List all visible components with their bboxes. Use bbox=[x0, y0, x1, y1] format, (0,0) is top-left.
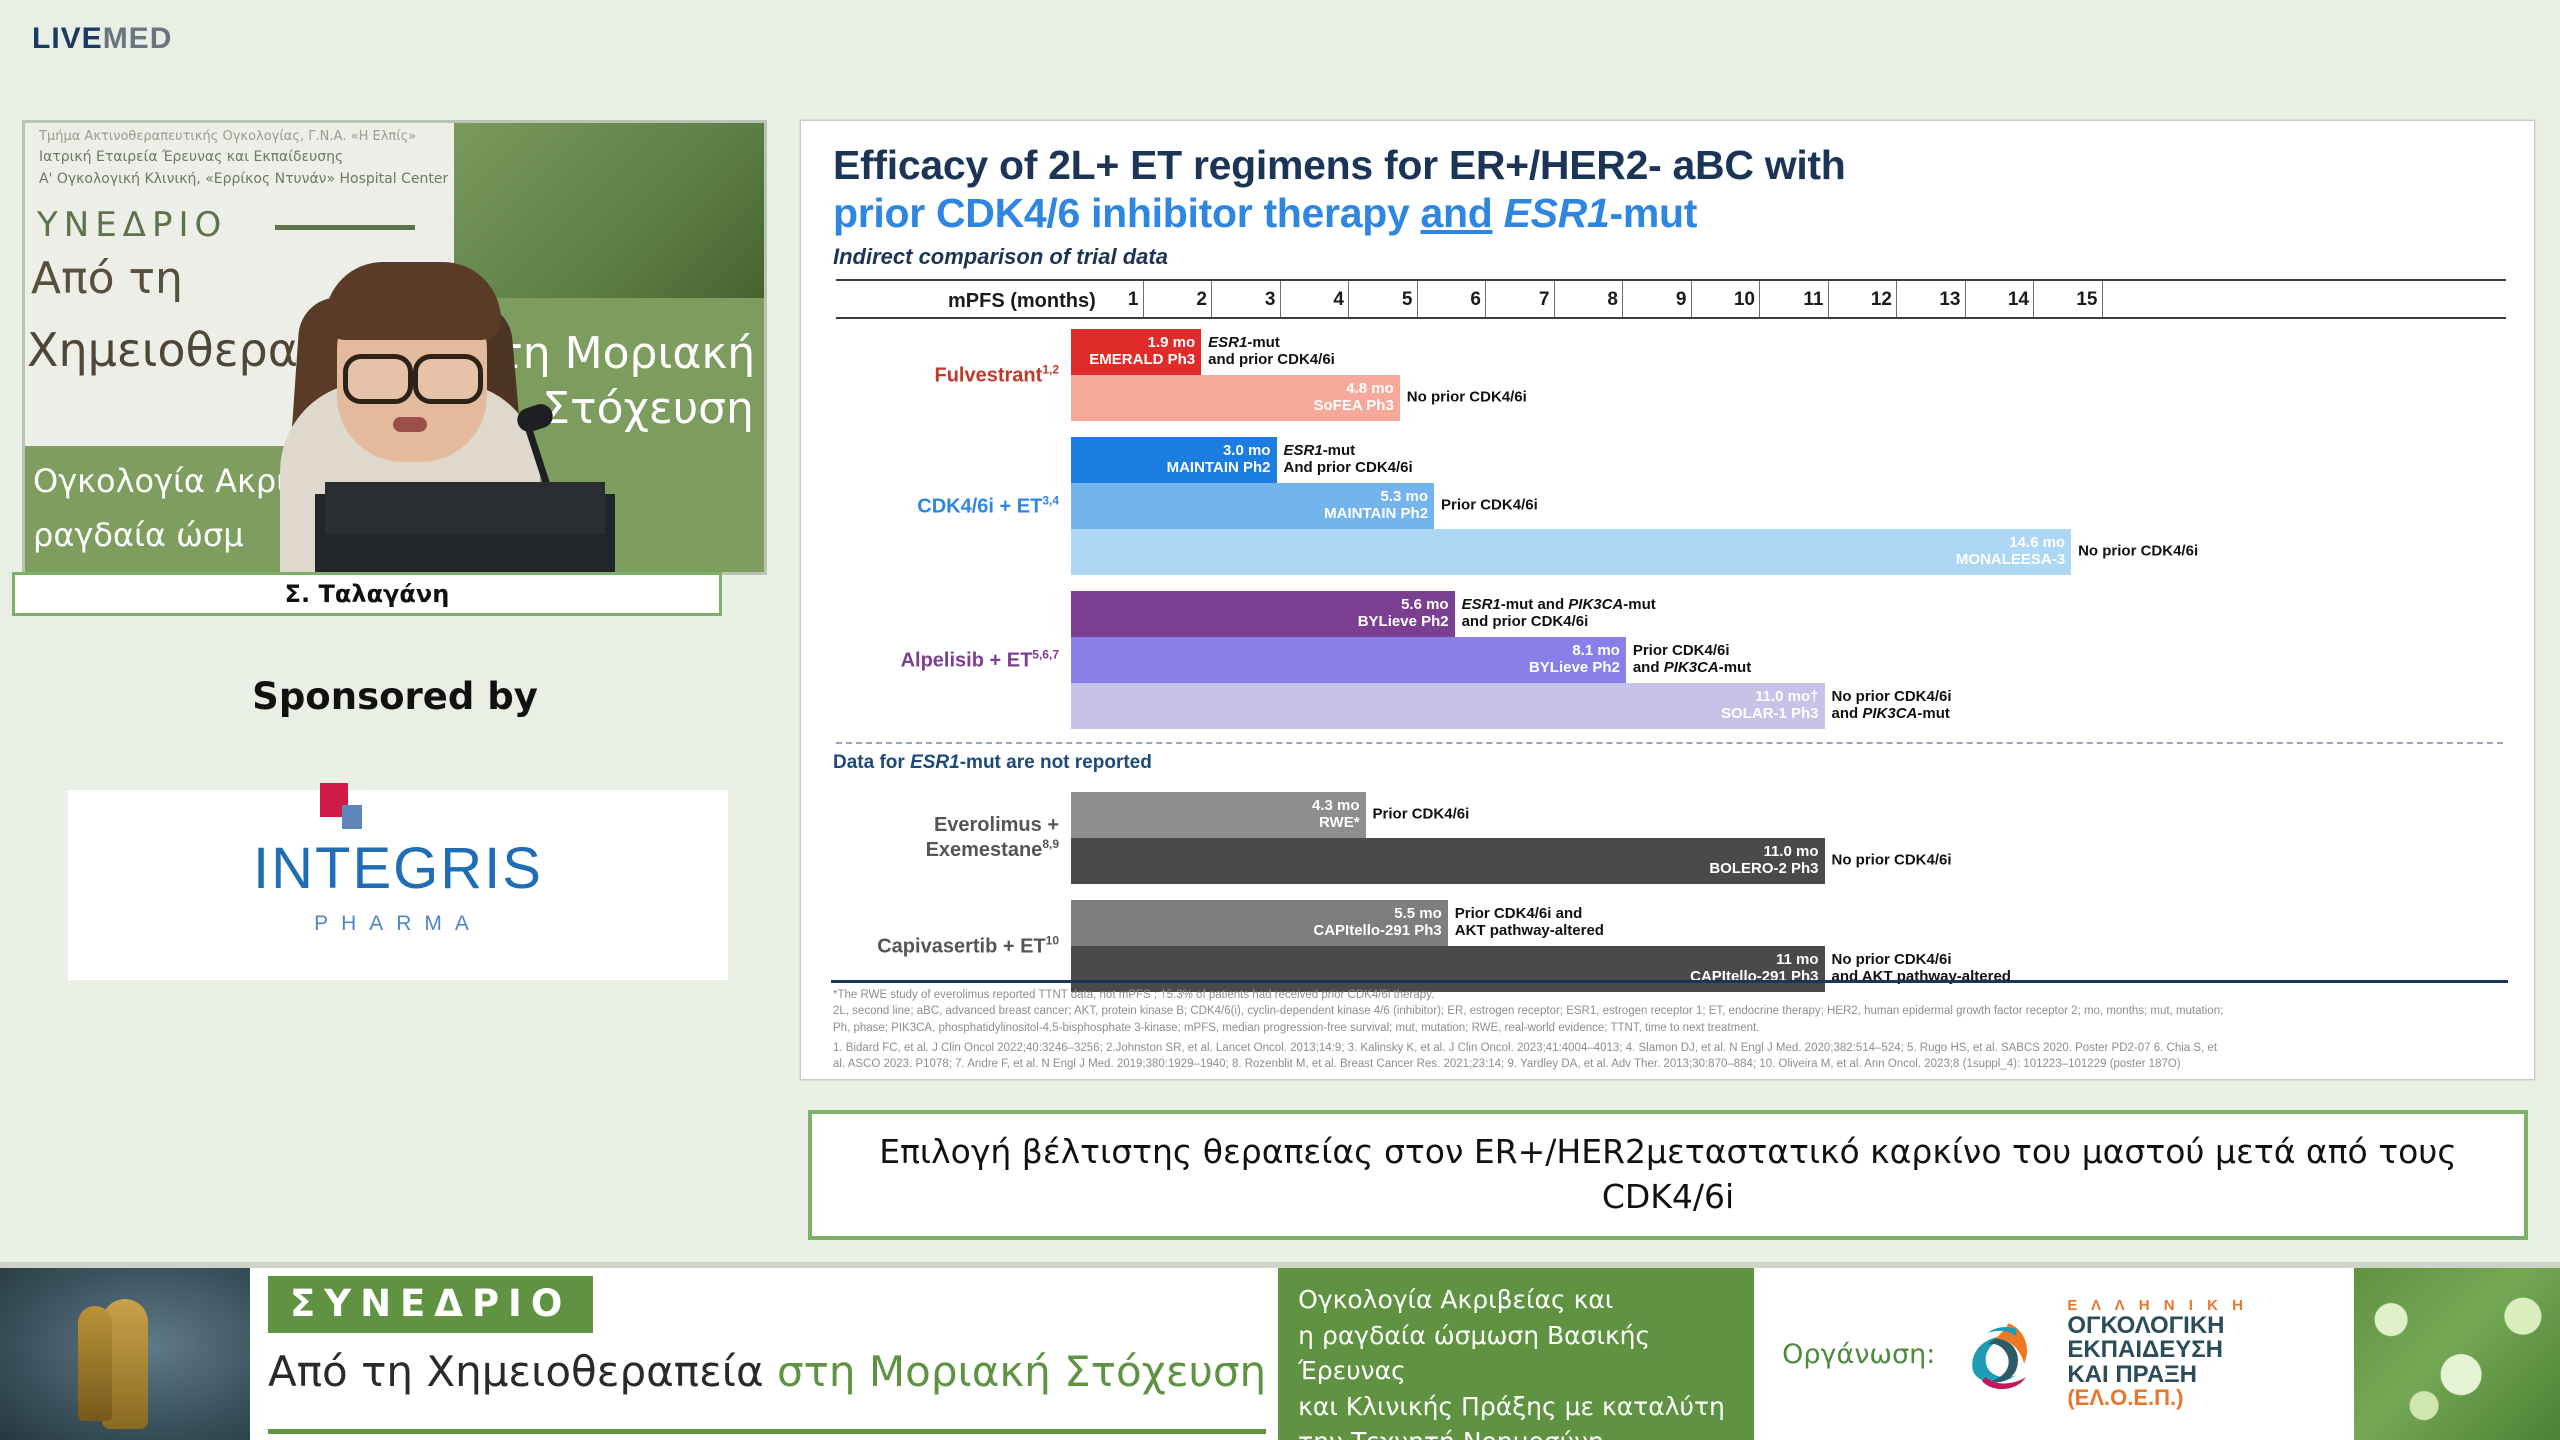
chart-bar-row: 5.3 moMAINTAIN Ph2Prior CDK4/6i bbox=[833, 483, 2506, 529]
chart-bar-value-label: 3.0 moMAINTAIN Ph2 bbox=[1167, 443, 1271, 477]
chart-bar-row: 4.8 moSoFEA Ph3No prior CDK4/6i bbox=[833, 375, 2506, 421]
backdrop-stoxeusi: Στόχευση bbox=[542, 383, 754, 434]
axis-tick-12: 12 bbox=[1896, 281, 1897, 317]
abbreviations-line1: 2L, second line; aBC, advanced breast ca… bbox=[833, 1003, 2510, 1020]
chart-bar-row: 14.6 moMONALEESA-3No prior CDK4/6i bbox=[833, 529, 2506, 575]
chart-bar[interactable]: 11 moCAPItello-291 Ph3 bbox=[1071, 946, 1825, 992]
axis-tick-9: 9 bbox=[1691, 281, 1692, 317]
not-reported-note: Data for ESR1-mut are not reported bbox=[833, 752, 2506, 774]
chart-bar-note: Prior CDK4/6i bbox=[1366, 806, 1470, 823]
axis-tick-8: 8 bbox=[1622, 281, 1623, 317]
sponsor-logo-card: INTEGRIS PHARMA bbox=[68, 790, 728, 980]
chart-bar[interactable]: 8.1 moBYLieve Ph2 bbox=[1071, 637, 1626, 683]
slide-title-mut: -mut bbox=[1610, 190, 1698, 236]
chart-bar-row: 8.1 moBYLieve Ph2Prior CDK4/6iand PIK3CA… bbox=[833, 637, 2506, 683]
session-caption: Επιλογή βέλτιστης θεραπείας στον ER+/HER… bbox=[808, 1110, 2528, 1240]
not-reported-a: Data for bbox=[833, 752, 910, 773]
banner-tagline-green: στη Μοριακή Στόχευση bbox=[777, 1347, 1266, 1396]
brand-med: MED bbox=[103, 22, 173, 55]
backdrop-green-topright bbox=[454, 123, 764, 298]
axis-tick-label: 15 bbox=[2076, 289, 2097, 311]
axis-tick-label: 8 bbox=[1607, 289, 1618, 311]
brand-live: LIVE bbox=[32, 22, 103, 55]
chart-bar-note: No prior CDK4/6i bbox=[2071, 543, 2198, 560]
conference-banner: ΣΥΝΕΔΡΙΟ Από τη Χημειοθεραπεία στη Μορια… bbox=[0, 1262, 2560, 1440]
chart-bar-row: 11.0 mo†SOLAR-1 Ph3No prior CDK4/6iand P… bbox=[833, 683, 2506, 729]
sponsored-by-heading: Sponsored by bbox=[0, 675, 790, 718]
app-root: LIVEMED Τμήμα Ακτινοθεραπευτικής Ογκολογ… bbox=[0, 0, 2560, 1440]
chart-bar-value-label: 5.3 moMAINTAIN Ph2 bbox=[1324, 489, 1428, 523]
axis-tick-label: 1 bbox=[1128, 289, 1139, 311]
organizer-label: Οργάνωση: bbox=[1782, 1339, 1935, 1370]
chart-axis: mPFS (months) 123456789101112131415 bbox=[836, 279, 2506, 319]
chart-bar-note: Prior CDK4/6iand PIK3CA-mut bbox=[1626, 643, 1751, 677]
not-reported-esr1: ESR1 bbox=[910, 752, 960, 773]
banner-tagline-dark: Από τη Χημειοθεραπεία bbox=[268, 1347, 777, 1396]
axis-tick-label: 13 bbox=[1939, 289, 1960, 311]
axis-label: mPFS (months) bbox=[948, 290, 1096, 313]
slide-subtitle: Indirect comparison of trial data bbox=[833, 244, 2506, 270]
eloep-line2: ΟΓΚΟΛΟΓΙΚΗ bbox=[2067, 1314, 2248, 1338]
axis-tick-label: 5 bbox=[1402, 289, 1413, 311]
chart-bar-row: 4.3 moRWE*Prior CDK4/6i bbox=[833, 792, 2506, 838]
slide-title-esr1: ESR1 bbox=[1504, 190, 1610, 236]
chart-bar-note: No prior CDK4/6i bbox=[1400, 389, 1527, 406]
speaker-name-plate: Σ. Ταλαγάνη bbox=[12, 572, 722, 616]
chart-bar-value-label: 8.1 moBYLieve Ph2 bbox=[1529, 643, 1620, 677]
chart-bar-row: 1.9 moEMERALD Ph3ESR1-mutand prior CDK4/… bbox=[833, 329, 2506, 375]
chart-bar-value-label: 5.5 moCAPItello-291 Ph3 bbox=[1313, 906, 1441, 940]
eloep-swirl-icon bbox=[1953, 1306, 2049, 1402]
chart-group: CDK4/6i + ET3,43.0 moMAINTAIN Ph2ESR1-mu… bbox=[833, 437, 2506, 575]
speaker-video-panel[interactable]: Τμήμα Ακτινοθεραπευτικής Ογκολογίας, Γ.Ν… bbox=[22, 120, 767, 575]
not-reported-b: -mut are not reported bbox=[960, 752, 1152, 773]
banner-theme-block: Ογκολογία Ακριβείας και η ραγδαία ώσμωση… bbox=[1278, 1268, 1754, 1440]
axis-tick-13: 13 bbox=[1965, 281, 1966, 317]
axis-tick-label: 9 bbox=[1676, 289, 1687, 311]
axis-tick-label: 7 bbox=[1539, 289, 1550, 311]
axis-tick-label: 12 bbox=[1871, 289, 1892, 311]
session-caption-text: Επιλογή βέλτιστης θεραπείας στον ER+/HER… bbox=[812, 1114, 2524, 1236]
backdrop-apo: Από τη bbox=[31, 253, 183, 304]
chart-bar-row: 5.6 moBYLieve Ph2ESR1-mut and PIK3CA-mut… bbox=[833, 591, 2506, 637]
slide-title-part-a: prior CDK4/6 inhibitor therapy bbox=[833, 190, 1421, 236]
chart-bar[interactable]: 5.3 moMAINTAIN Ph2 bbox=[1071, 483, 1434, 529]
axis-tick-1: 1 bbox=[1143, 281, 1144, 317]
axis-tick-label: 11 bbox=[1803, 289, 1823, 311]
livemed-logo: LIVEMED bbox=[32, 22, 172, 56]
axis-tick-15: 15 bbox=[2102, 281, 2103, 317]
slide-title-space bbox=[1493, 190, 1504, 236]
chart-bar-note: ESR1-mutand prior CDK4/6i bbox=[1201, 335, 1335, 369]
axis-tick-7: 7 bbox=[1554, 281, 1555, 317]
chart-bar-value-label: 11.0 moBOLERO-2 Ph3 bbox=[1709, 844, 1818, 878]
banner-synedrio-badge: ΣΥΝΕΔΡΙΟ bbox=[268, 1276, 593, 1333]
integris-logo: INTEGRIS PHARMA bbox=[68, 790, 728, 980]
chart-bar-row: 3.0 moMAINTAIN Ph2ESR1-mutAnd prior CDK4… bbox=[833, 437, 2506, 483]
axis-tick-label: 10 bbox=[1734, 289, 1755, 311]
chart-bar-value-label: 5.6 moBYLieve Ph2 bbox=[1358, 597, 1449, 631]
speaker-mouth bbox=[393, 417, 427, 432]
glasses-icon bbox=[343, 354, 483, 394]
chart-bar[interactable]: 14.6 moMONALEESA-3 bbox=[1071, 529, 2071, 575]
laptop bbox=[325, 482, 605, 534]
cells-image bbox=[2354, 1268, 2560, 1440]
chart-bar-note: Prior CDK4/6i bbox=[1434, 497, 1538, 514]
slide-title-line1: Efficacy of 2L+ ET regimens for ER+/HER2… bbox=[833, 143, 2506, 189]
chart-bar[interactable]: 11.0 moBOLERO-2 Ph3 bbox=[1071, 838, 1825, 884]
axis-tick-10: 10 bbox=[1759, 281, 1760, 317]
chart-bar[interactable]: 5.6 moBYLieve Ph2 bbox=[1071, 591, 1455, 637]
chart-bar[interactable]: 3.0 moMAINTAIN Ph2 bbox=[1071, 437, 1277, 483]
chart-bar-note: ESR1-mutAnd prior CDK4/6i bbox=[1277, 443, 1413, 477]
banner-theme-line1: Ογκολογία Ακριβείας και bbox=[1298, 1282, 1734, 1318]
banner-tagline: Από τη Χημειοθεραπεία στη Μοριακή Στόχευ… bbox=[268, 1347, 1266, 1396]
speaker-video[interactable]: Τμήμα Ακτινοθεραπευτικής Ογκολογίας, Γ.Ν… bbox=[25, 123, 764, 572]
axis-tick-14: 14 bbox=[2033, 281, 2034, 317]
eloep-wordmark: Ε Λ Λ Η Ν Ι Κ Η ΟΓΚΟΛΟΓΙΚΗ ΕΚΠΑΙΔΕΥΣΗ ΚΑ… bbox=[2067, 1298, 2248, 1409]
axis-tick-label: 14 bbox=[2008, 289, 2029, 311]
slide-title-line2: prior CDK4/6 inhibitor therapy and ESR1-… bbox=[833, 191, 2506, 237]
chart-group: Everolimus +Exemestane8,94.3 moRWE*Prior… bbox=[833, 792, 2506, 884]
backdrop-rule bbox=[275, 225, 415, 230]
slide-footnotes: *The RWE study of everolimus reported TT… bbox=[833, 987, 2510, 1073]
eloep-line4: ΚΑΙ ΠΡΑΞΗ bbox=[2067, 1363, 2248, 1387]
integris-subtitle: PHARMA bbox=[314, 912, 482, 936]
statue-image bbox=[0, 1268, 250, 1440]
chart-bar[interactable]: 11.0 mo†SOLAR-1 Ph3 bbox=[1071, 683, 1825, 729]
banner-theme-line2: η ραγδαία ώσμωση Βασικής Έρευνας bbox=[1298, 1318, 1734, 1389]
backdrop-line3: Α' Ογκολογική Κλινική, «Ερρίκος Ντυνάν» … bbox=[39, 171, 448, 187]
axis-tick-label: 2 bbox=[1196, 289, 1207, 311]
backdrop-ragdaia: ραγδαία ώσμ bbox=[33, 516, 244, 554]
chart-bar-value-label: 4.8 moSoFEA Ph3 bbox=[1314, 381, 1394, 415]
backdrop-chemo: Χημειοθερα bbox=[27, 323, 298, 377]
footnote-dagger: *The RWE study of everolimus reported TT… bbox=[833, 987, 2510, 1004]
chart-bar-note: ESR1-mut and PIK3CA-mutand prior CDK4/6i bbox=[1455, 597, 1656, 631]
axis-tick-label: 4 bbox=[1333, 289, 1344, 311]
chart-bar[interactable]: 4.3 moRWE* bbox=[1071, 792, 1366, 838]
axis-tick-5: 5 bbox=[1417, 281, 1418, 317]
chart-bar-value-label: 11.0 mo†SOLAR-1 Ph3 bbox=[1721, 689, 1819, 723]
banner-theme-line4: την Τεχνητή Νοημοσύνη bbox=[1298, 1424, 1734, 1440]
chart-bar-value-label: 4.3 moRWE* bbox=[1312, 798, 1360, 832]
mpfs-chart: Fulvestrant1,21.9 moEMERALD Ph3ESR1-muta… bbox=[833, 329, 2506, 729]
speaker-hair-top bbox=[325, 262, 501, 340]
abbreviations-line2: Ph, phase; PIK3CA, phosphatidylinositol-… bbox=[833, 1020, 2510, 1037]
chart-bar-value-label: 14.6 moMONALEESA-3 bbox=[1956, 535, 2065, 569]
banner-theme-line3: και Κλινικής Πράξης με καταλύτη bbox=[1298, 1389, 1734, 1425]
chart-bar[interactable]: 1.9 moEMERALD Ph3 bbox=[1071, 329, 1201, 375]
axis-tick-label: 6 bbox=[1470, 289, 1481, 311]
chart-group: Capivasertib + ET105.5 moCAPItello-291 P… bbox=[833, 900, 2506, 992]
axis-tick-label: 3 bbox=[1265, 289, 1276, 311]
chart-bar[interactable]: 5.5 moCAPItello-291 Ph3 bbox=[1071, 900, 1448, 946]
chart-bar-row: 5.5 moCAPItello-291 Ph3Prior CDK4/6i and… bbox=[833, 900, 2506, 946]
references-line2: al. ASCO 2023. P1078; 7. Andre F, et al.… bbox=[833, 1056, 2510, 1073]
slide-footer-rule bbox=[831, 980, 2508, 983]
chart-bar[interactable]: 4.8 moSoFEA Ph3 bbox=[1071, 375, 1400, 421]
axis-tick-6: 6 bbox=[1485, 281, 1486, 317]
chart-bar-note: Prior CDK4/6i andAKT pathway-altered bbox=[1448, 906, 1604, 940]
speaker-name-label: Σ. Ταλαγάνη bbox=[15, 575, 719, 613]
eloep-line5: (ΕΛ.Ο.Ε.Π.) bbox=[2067, 1387, 2248, 1409]
axis-tick-3: 3 bbox=[1280, 281, 1281, 317]
banner-organizer-block: Οργάνωση: Ε Λ Λ Η Ν Ι Κ Η ΟΓΚΟΛΟΓΙΚΗ ΕΚΠ… bbox=[1754, 1268, 2354, 1440]
axis-tick-4: 4 bbox=[1348, 281, 1349, 317]
mpfs-chart-secondary: Everolimus +Exemestane8,94.3 moRWE*Prior… bbox=[833, 792, 2506, 992]
backdrop-synedrio: ΥΝΕΔΡΙΟ bbox=[37, 205, 227, 245]
backdrop-line2: Ιατρική Εταιρεία Έρευνας και Εκπαίδευσης bbox=[39, 149, 343, 165]
banner-title-block: ΣΥΝΕΔΡΙΟ Από τη Χημειοθεραπεία στη Μορια… bbox=[250, 1268, 1278, 1440]
banner-rule bbox=[268, 1429, 1266, 1434]
presentation-slide[interactable]: Efficacy of 2L+ ET regimens for ER+/HER2… bbox=[800, 120, 2535, 1080]
chart-bar-value-label: 1.9 moEMERALD Ph3 bbox=[1089, 335, 1195, 369]
chart-bar-row: 11.0 moBOLERO-2 Ph3No prior CDK4/6i bbox=[833, 838, 2506, 884]
section-divider bbox=[836, 742, 2503, 744]
chart-group: Alpelisib + ET5,6,75.6 moBYLieve Ph2ESR1… bbox=[833, 591, 2506, 729]
slide-title-and: and bbox=[1421, 190, 1493, 236]
chart-group: Fulvestrant1,21.9 moEMERALD Ph3ESR1-muta… bbox=[833, 329, 2506, 421]
integris-blue-square-icon bbox=[342, 805, 362, 829]
integris-wordmark: INTEGRIS bbox=[253, 835, 543, 902]
chart-bar-note: No prior CDK4/6iand PIK3CA-mut bbox=[1825, 689, 1952, 723]
backdrop-line1: Τμήμα Ακτινοθεραπευτικής Ογκολογίας, Γ.Ν… bbox=[39, 129, 416, 144]
chart-bar-note: No prior CDK4/6i bbox=[1825, 852, 1952, 869]
axis-tick-11: 11 bbox=[1828, 281, 1829, 317]
axis-tick-2: 2 bbox=[1211, 281, 1212, 317]
chart-bar-row: 11 moCAPItello-291 Ph3No prior CDK4/6ian… bbox=[833, 946, 2506, 992]
references-line1: 1. Bidard FC, et al. J Clin Oncol 2022;4… bbox=[833, 1040, 2510, 1057]
eloep-line3: ΕΚΠΑΙΔΕΥΣΗ bbox=[2067, 1338, 2248, 1362]
